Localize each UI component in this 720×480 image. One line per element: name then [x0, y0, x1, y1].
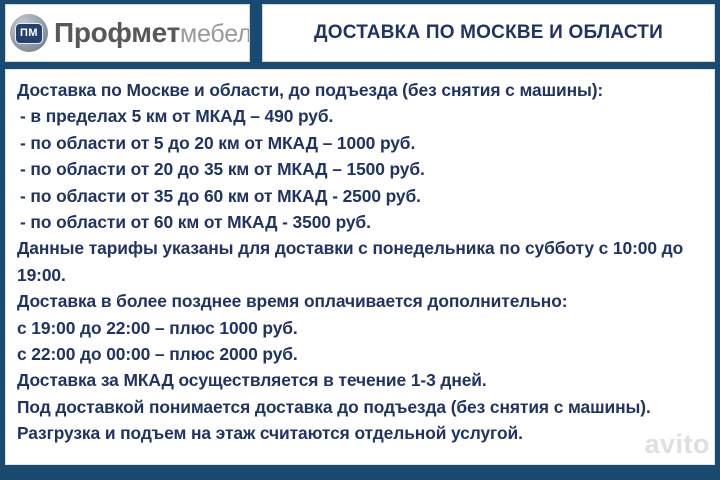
- terms-line-intro: Доставка по Москве и области, до подъезд…: [17, 77, 704, 103]
- terms-line-late-delivery-note: Доставка в более позднее время оплачивае…: [17, 288, 704, 314]
- delivery-info-banner: ПМ Профмет мебель ДОСТАВКА ПО МОСКВЕ И О…: [0, 0, 720, 480]
- terms-line-schedule: Данные тарифы указаны для доставки с пон…: [17, 235, 704, 288]
- page-title: ДОСТАВКА ПО МОСКВЕ И ОБЛАСТИ: [314, 22, 663, 44]
- terms-line-rate-60km: - по области от 60 км от МКАД - 3500 руб…: [17, 209, 704, 235]
- brand-logo-box: ПМ Профмет мебель: [5, 4, 250, 62]
- terms-line-rate-20-35km: - по области от 20 до 35 км от МКАД – 15…: [17, 156, 704, 182]
- terms-line-surcharge-19-22: с 19:00 до 22:00 – плюс 1000 руб.: [17, 315, 704, 341]
- banner-title-box: ДОСТАВКА ПО МОСКВЕ И ОБЛАСТИ: [262, 4, 715, 62]
- terms-line-rate-35-60km: - по области от 35 до 60 км от МКАД - 25…: [17, 183, 704, 209]
- banner-header: ПМ Профмет мебель ДОСТАВКА ПО МОСКВЕ И О…: [5, 4, 715, 62]
- brand-name-primary: Профмет: [54, 17, 180, 49]
- terms-line-surcharge-22-00: с 22:00 до 00:00 – плюс 2000 руб.: [17, 341, 704, 367]
- brand-wordmark: Профмет мебель: [54, 17, 250, 49]
- terms-line-rate-5km: - в пределах 5 км от МКАД – 490 руб.: [17, 103, 704, 129]
- brand-name-secondary: мебель: [180, 20, 250, 49]
- pm-circle-logo-icon: ПМ: [10, 14, 48, 52]
- pm-monogram-label: ПМ: [15, 23, 43, 44]
- delivery-terms-panel: Доставка по Москве и области, до подъезд…: [5, 69, 715, 465]
- terms-line-outside-mkad-lead-time: Доставка за МКАД осуществляется в течени…: [17, 367, 704, 393]
- terms-line-definition: Под доставкой понимается доставка до под…: [17, 394, 704, 447]
- terms-line-rate-5-20km: - по области от 5 до 20 км от МКАД – 100…: [17, 130, 704, 156]
